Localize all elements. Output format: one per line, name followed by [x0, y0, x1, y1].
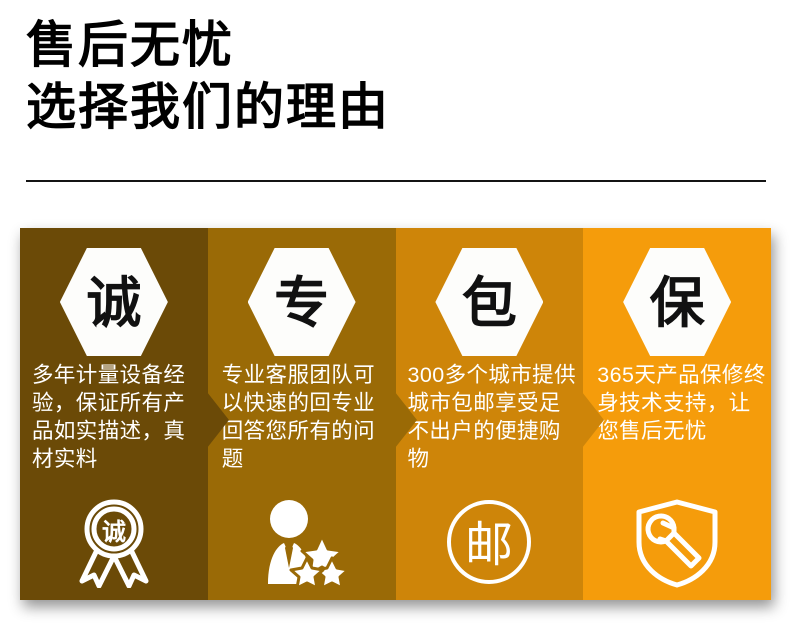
badge-character: 专 — [274, 276, 329, 331]
promo-banner: 售后无忧 选择我们的理由 诚 多年计量设备经验，保证所有产品如实描述，真材实料 — [0, 0, 790, 636]
shipping-char: 邮 — [465, 519, 513, 572]
hexagon-badge: 专 — [248, 248, 356, 356]
hexagon-badge: 保 — [623, 248, 731, 356]
panel-description: 多年计量设备经验，保证所有产品如实描述，真材实料 — [20, 362, 208, 474]
hexagon-badge: 诚 — [60, 248, 168, 356]
award-ribbon-char: 诚 — [102, 519, 126, 546]
feature-panel-row: 诚 多年计量设备经验，保证所有产品如实描述，真材实料 诚 — [20, 228, 771, 600]
feature-panel-cheng[interactable]: 诚 多年计量设备经验，保证所有产品如实描述，真材实料 诚 — [20, 228, 208, 600]
title-divider — [26, 180, 766, 182]
page-title-line-1: 售后无忧 — [26, 18, 766, 72]
support-agent-stars-icon — [254, 496, 350, 588]
page-title-line-2: 选择我们的理由 — [26, 80, 766, 134]
shield-wrench-icon — [629, 496, 725, 588]
panel-description: 300多个城市提供城市包邮享受足不出户的便捷购物 — [396, 362, 584, 474]
badge-character: 包 — [462, 276, 517, 331]
chevron-right-icon — [582, 392, 604, 448]
panel-description: 专业客服团队可以快速的回专业回答您所有的问题 — [208, 362, 396, 474]
feature-panel-bao-warranty[interactable]: 保 365天产品保修终身技术支持，让您售后无忧 — [583, 228, 771, 600]
badge-character: 保 — [650, 276, 705, 331]
panel-description: 365天产品保修终身技术支持，让您售后无忧 — [583, 362, 771, 446]
feature-panel-bao-shipping[interactable]: 包 300多个城市提供城市包邮享受足不出户的便捷购物 邮 — [396, 228, 584, 600]
badge-character: 诚 — [86, 276, 141, 331]
feature-panel-zhuan[interactable]: 专 专业客服团队可以快速的回专业回答您所有的问题 — [208, 228, 396, 600]
hexagon-badge: 包 — [435, 248, 543, 356]
chevron-right-icon — [207, 392, 229, 448]
chevron-right-icon — [395, 392, 417, 448]
award-ribbon-icon: 诚 — [66, 496, 162, 588]
free-shipping-circle-icon: 邮 — [441, 496, 537, 588]
page-header: 售后无忧 选择我们的理由 — [26, 18, 766, 134]
